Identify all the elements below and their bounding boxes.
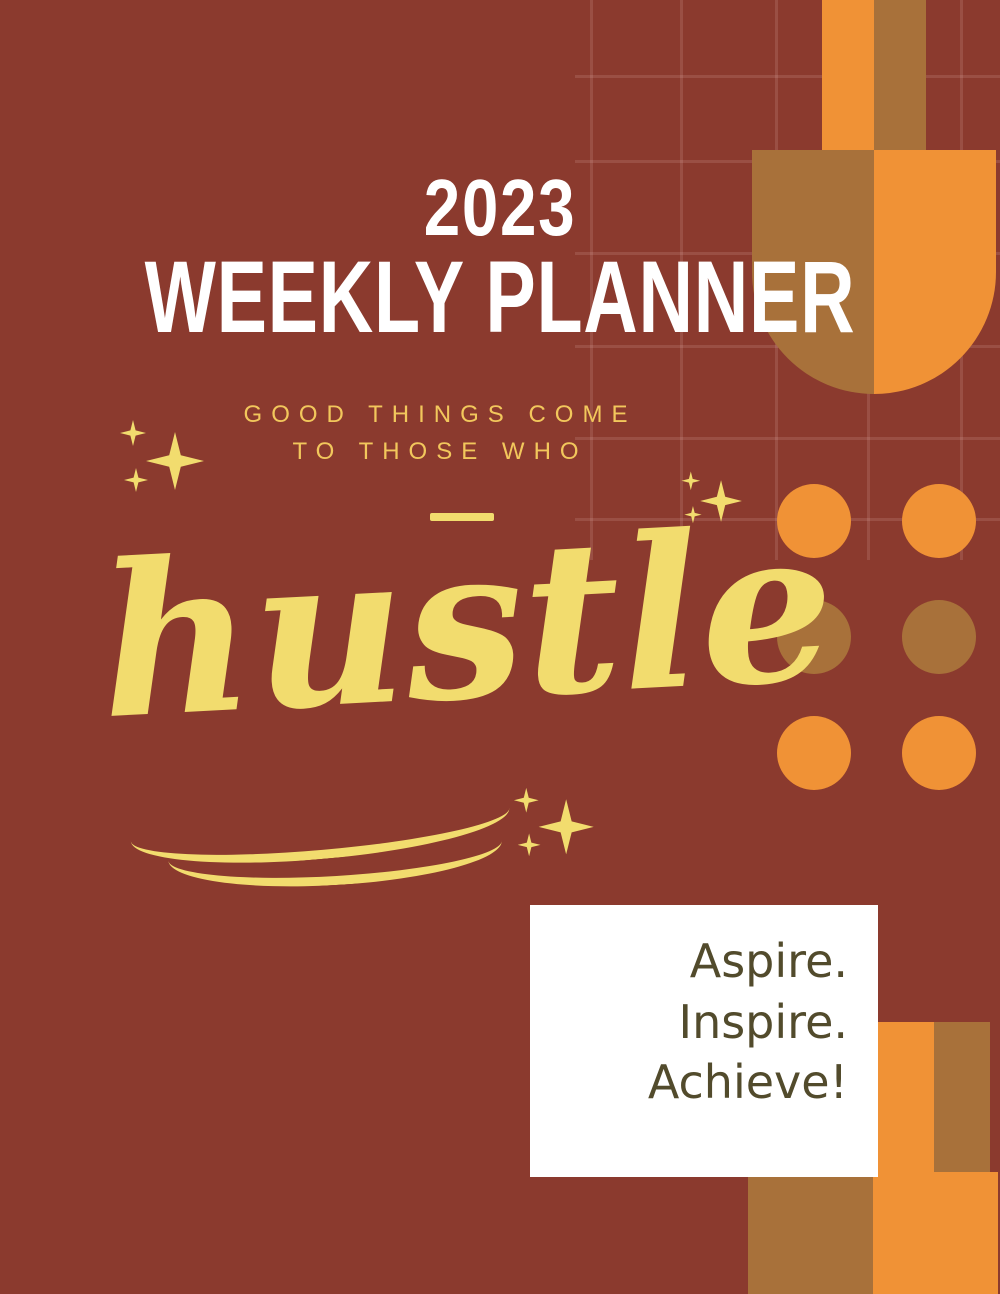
semicircle-half-orange bbox=[873, 1172, 998, 1294]
quote-line-2: Inspire. bbox=[530, 992, 848, 1053]
tagline: GOOD THINGS COME TO THOSE WHO bbox=[150, 396, 730, 470]
year-label: 2023 bbox=[90, 168, 910, 248]
bar-half-orange bbox=[878, 1022, 934, 1182]
bar-half-brown bbox=[874, 0, 926, 160]
quote-box: Aspire. Inspire. Achieve! bbox=[530, 905, 878, 1177]
book-cover: 2023 WEEKLY PLANNER GOOD THINGS COME TO … bbox=[0, 0, 1000, 1294]
script-word-hustle: hustle bbox=[95, 502, 805, 748]
dot-r3-c2 bbox=[902, 716, 976, 790]
bar-half-orange bbox=[822, 0, 874, 160]
bar-half-brown bbox=[934, 1022, 990, 1182]
sparkle-star-large-icon bbox=[539, 799, 594, 854]
sparkle-star-small-top-icon bbox=[120, 420, 146, 446]
top-right-bar-shape bbox=[822, 0, 926, 160]
sparkle-star-small-bottom-icon bbox=[518, 834, 541, 857]
sparkle-star-small-top-icon bbox=[514, 788, 539, 813]
bottom-right-semicircle-shape bbox=[748, 1172, 998, 1294]
dot-r2-c2 bbox=[902, 600, 976, 674]
tagline-line-1: GOOD THINGS COME bbox=[150, 396, 730, 433]
dot-r1-c2 bbox=[902, 484, 976, 558]
bottom-right-bar-shape bbox=[878, 1022, 990, 1182]
quote-line-3: Achieve! bbox=[530, 1052, 848, 1113]
page-title: WEEKLY PLANNER bbox=[130, 246, 870, 348]
sparkle-star-small-bottom-icon bbox=[124, 468, 148, 492]
semicircle-half-brown bbox=[748, 1172, 873, 1294]
grid-line-horizontal-0 bbox=[575, 75, 1000, 78]
tagline-line-2: TO THOSE WHO bbox=[150, 433, 730, 470]
quote-line-1: Aspire. bbox=[530, 931, 848, 992]
swoosh-underline bbox=[130, 790, 510, 880]
